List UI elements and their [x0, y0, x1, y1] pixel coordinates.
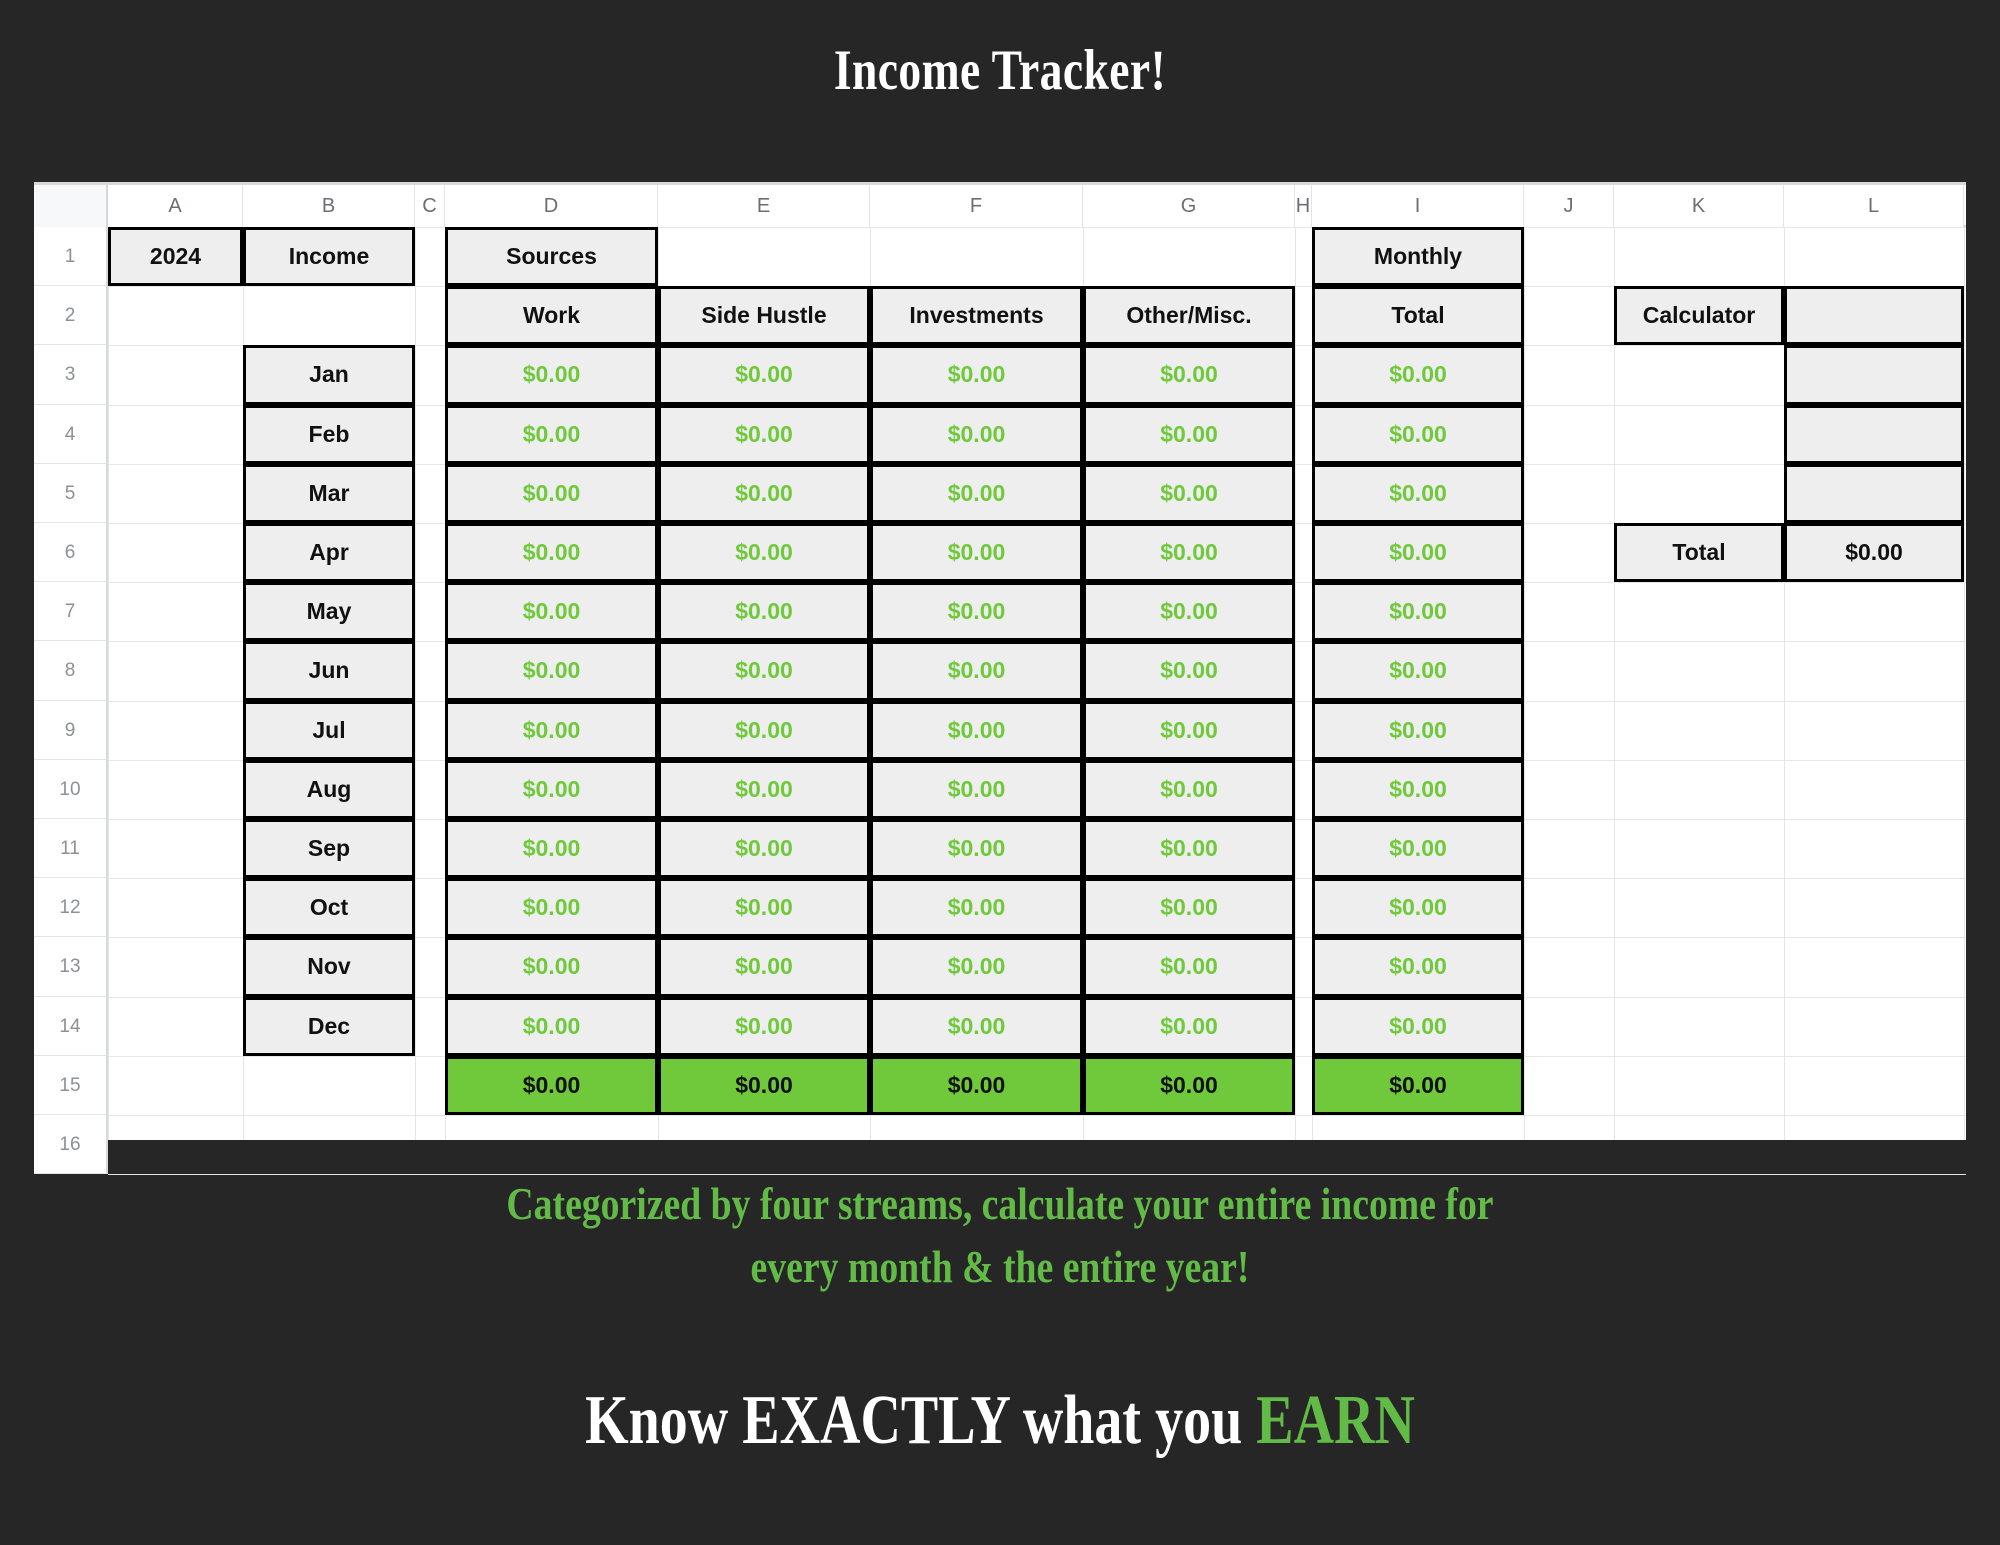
row-header-9[interactable]: 9 [34, 701, 108, 760]
cell-column-total-work[interactable]: $0.00 [445, 1056, 658, 1115]
cell-year[interactable]: 2024 [108, 227, 243, 286]
cell-sources-label[interactable]: Sources [445, 227, 658, 286]
cell-other-mar[interactable]: $0.00 [1083, 464, 1295, 523]
cell-other-dec[interactable]: $0.00 [1083, 997, 1295, 1056]
cell-monthly-total-apr[interactable]: $0.00 [1312, 523, 1524, 582]
row-header-11[interactable]: 11 [34, 819, 108, 878]
column-header-j[interactable]: J [1524, 185, 1614, 227]
cell-investments-sep[interactable]: $0.00 [870, 819, 1083, 878]
cell-monthly-total-jun[interactable]: $0.00 [1312, 641, 1524, 700]
cell-monthly-total-sep[interactable]: $0.00 [1312, 819, 1524, 878]
gridline-vertical [108, 227, 109, 1140]
column-header-h[interactable]: H [1295, 185, 1312, 227]
spreadsheet: ABCDEFGHIJKL 123456789101112131415162024… [34, 182, 1966, 1140]
cell-month-apr[interactable]: Apr [243, 523, 415, 582]
row-header-13[interactable]: 13 [34, 937, 108, 996]
cell-investments-oct[interactable]: $0.00 [870, 878, 1083, 937]
row-header-5[interactable]: 5 [34, 464, 108, 523]
gridline-vertical [1295, 227, 1296, 1140]
cell-work-nov[interactable]: $0.00 [445, 937, 658, 996]
cell-month-nov[interactable]: Nov [243, 937, 415, 996]
cell-other-apr[interactable]: $0.00 [1083, 523, 1295, 582]
column-header-l[interactable]: L [1784, 185, 1964, 227]
cell-side-hustle-apr[interactable]: $0.00 [658, 523, 870, 582]
cell-source-header-investments[interactable]: Investments [870, 286, 1083, 345]
gridline-vertical [1524, 227, 1525, 1140]
cell-other-aug[interactable]: $0.00 [1083, 760, 1295, 819]
cell-investments-jun[interactable]: $0.00 [870, 641, 1083, 700]
cell-source-header-work[interactable]: Work [445, 286, 658, 345]
cell-investments-jan[interactable]: $0.00 [870, 345, 1083, 404]
select-all-corner[interactable] [34, 185, 108, 227]
cell-investments-mar[interactable]: $0.00 [870, 464, 1083, 523]
column-header-e[interactable]: E [658, 185, 870, 227]
column-header-i[interactable]: I [1312, 185, 1524, 227]
cell-month-dec[interactable]: Dec [243, 997, 415, 1056]
cell-other-may[interactable]: $0.00 [1083, 582, 1295, 641]
cell-investments-aug[interactable]: $0.00 [870, 760, 1083, 819]
column-header-d[interactable]: D [445, 185, 658, 227]
cell-work-mar[interactable]: $0.00 [445, 464, 658, 523]
cell-other-jan[interactable]: $0.00 [1083, 345, 1295, 404]
cell-other-oct[interactable]: $0.00 [1083, 878, 1295, 937]
cell-side-hustle-feb[interactable]: $0.00 [658, 405, 870, 464]
cell-monthly-label[interactable]: Monthly [1312, 227, 1524, 286]
cell-work-jun[interactable]: $0.00 [445, 641, 658, 700]
cell-work-jul[interactable]: $0.00 [445, 701, 658, 760]
row-header-4[interactable]: 4 [34, 405, 108, 464]
cell-column-total-investments[interactable]: $0.00 [870, 1056, 1083, 1115]
cell-investments-may[interactable]: $0.00 [870, 582, 1083, 641]
cell-side-hustle-nov[interactable]: $0.00 [658, 937, 870, 996]
row-header-2[interactable]: 2 [34, 286, 108, 345]
cell-work-apr[interactable]: $0.00 [445, 523, 658, 582]
subcopy-line-2: every month & the entire year! [180, 1235, 1820, 1298]
row-header-14[interactable]: 14 [34, 997, 108, 1056]
row-header-1[interactable]: 1 [34, 227, 108, 286]
row-header-3[interactable]: 3 [34, 345, 108, 404]
cell-side-hustle-mar[interactable]: $0.00 [658, 464, 870, 523]
calculator-input-1[interactable] [1784, 286, 1964, 345]
cell-calculator-total-label[interactable]: Total [1614, 523, 1784, 582]
cell-month-feb[interactable]: Feb [243, 405, 415, 464]
cell-monthly-total-may[interactable]: $0.00 [1312, 582, 1524, 641]
column-header-f[interactable]: F [870, 185, 1083, 227]
page-title: Income Tracker! [200, 0, 1800, 99]
column-header-k[interactable]: K [1614, 185, 1784, 227]
cell-other-sep[interactable]: $0.00 [1083, 819, 1295, 878]
cell-side-hustle-jul[interactable]: $0.00 [658, 701, 870, 760]
cell-monthly-total-jan[interactable]: $0.00 [1312, 345, 1524, 404]
calculator-input-4[interactable] [1784, 464, 1964, 523]
column-header-strip: ABCDEFGHIJKL [34, 185, 1966, 227]
cell-monthly-total-dec[interactable]: $0.00 [1312, 997, 1524, 1056]
cell-work-feb[interactable]: $0.00 [445, 405, 658, 464]
cell-work-oct[interactable]: $0.00 [445, 878, 658, 937]
cell-monthly-total-oct[interactable]: $0.00 [1312, 878, 1524, 937]
cell-work-sep[interactable]: $0.00 [445, 819, 658, 878]
tagline-text: Know EXACTLY what you [585, 1382, 1256, 1459]
cell-month-may[interactable]: May [243, 582, 415, 641]
row-header-15[interactable]: 15 [34, 1056, 108, 1115]
cell-investments-apr[interactable]: $0.00 [870, 523, 1083, 582]
cell-work-jan[interactable]: $0.00 [445, 345, 658, 404]
cell-month-sep[interactable]: Sep [243, 819, 415, 878]
cell-month-oct[interactable]: Oct [243, 878, 415, 937]
gridline-horizontal [108, 1115, 1966, 1116]
column-header-a[interactable]: A [108, 185, 243, 227]
cell-investments-nov[interactable]: $0.00 [870, 937, 1083, 996]
cell-income-label[interactable]: Income [243, 227, 415, 286]
cell-monthly-total-jul[interactable]: $0.00 [1312, 701, 1524, 760]
cell-month-jan[interactable]: Jan [243, 345, 415, 404]
cell-side-hustle-sep[interactable]: $0.00 [658, 819, 870, 878]
cell-side-hustle-dec[interactable]: $0.00 [658, 997, 870, 1056]
cell-calculator-total-value[interactable]: $0.00 [1784, 523, 1964, 582]
cell-column-total-side-hustle[interactable]: $0.00 [658, 1056, 870, 1115]
cell-other-nov[interactable]: $0.00 [1083, 937, 1295, 996]
cell-side-hustle-jun[interactable]: $0.00 [658, 641, 870, 700]
cell-other-jun[interactable]: $0.00 [1083, 641, 1295, 700]
cell-investments-feb[interactable]: $0.00 [870, 405, 1083, 464]
cell-month-aug[interactable]: Aug [243, 760, 415, 819]
cell-side-hustle-aug[interactable]: $0.00 [658, 760, 870, 819]
cell-investments-jul[interactable]: $0.00 [870, 701, 1083, 760]
cell-work-may[interactable]: $0.00 [445, 582, 658, 641]
column-header-c[interactable]: C [415, 185, 445, 227]
row-header-16[interactable]: 16 [34, 1115, 108, 1174]
cell-investments-dec[interactable]: $0.00 [870, 997, 1083, 1056]
cell-other-jul[interactable]: $0.00 [1083, 701, 1295, 760]
subcopy: Categorized by four streams, calculate y… [180, 1172, 1820, 1299]
calculator-input-2[interactable] [1784, 345, 1964, 404]
row-header-10[interactable]: 10 [34, 760, 108, 819]
calculator-input-3[interactable] [1784, 405, 1964, 464]
cell-calculator-label[interactable]: Calculator [1614, 286, 1784, 345]
row-header-6[interactable]: 6 [34, 523, 108, 582]
subcopy-line-1: Categorized by four streams, calculate y… [180, 1172, 1820, 1235]
cell-monthly-total-mar[interactable]: $0.00 [1312, 464, 1524, 523]
cell-side-hustle-oct[interactable]: $0.00 [658, 878, 870, 937]
cell-other-feb[interactable]: $0.00 [1083, 405, 1295, 464]
cell-monthly-total-feb[interactable]: $0.00 [1312, 405, 1524, 464]
cell-side-hustle-jan[interactable]: $0.00 [658, 345, 870, 404]
gridline-vertical [415, 227, 416, 1140]
cell-work-aug[interactable]: $0.00 [445, 760, 658, 819]
column-header-b[interactable]: B [243, 185, 415, 227]
cell-monthly-total-aug[interactable]: $0.00 [1312, 760, 1524, 819]
cell-column-total-other[interactable]: $0.00 [1083, 1056, 1295, 1115]
gridline-vertical [1964, 227, 1965, 1140]
cell-source-header-side-hustle[interactable]: Side Hustle [658, 286, 870, 345]
row-header-8[interactable]: 8 [34, 641, 108, 700]
cell-side-hustle-may[interactable]: $0.00 [658, 582, 870, 641]
row-header-7[interactable]: 7 [34, 582, 108, 641]
column-header-g[interactable]: G [1083, 185, 1295, 227]
cell-work-dec[interactable]: $0.00 [445, 997, 658, 1056]
tagline-accent: EARN [1256, 1382, 1415, 1459]
cell-month-mar[interactable]: Mar [243, 464, 415, 523]
cell-month-jul[interactable]: Jul [243, 701, 415, 760]
row-header-12[interactable]: 12 [34, 878, 108, 937]
cell-month-jun[interactable]: Jun [243, 641, 415, 700]
cell-monthly-total-header[interactable]: Total [1312, 286, 1524, 345]
cell-source-header-other-misc[interactable]: Other/Misc. [1083, 286, 1295, 345]
cell-monthly-total-nov[interactable]: $0.00 [1312, 937, 1524, 996]
gridline-vertical [1614, 227, 1615, 1140]
cell-grand-total[interactable]: $0.00 [1312, 1056, 1524, 1115]
spreadsheet-grid: ABCDEFGHIJKL 123456789101112131415162024… [34, 185, 1966, 1140]
tagline: Know EXACTLY what you EARN [200, 1382, 1800, 1459]
